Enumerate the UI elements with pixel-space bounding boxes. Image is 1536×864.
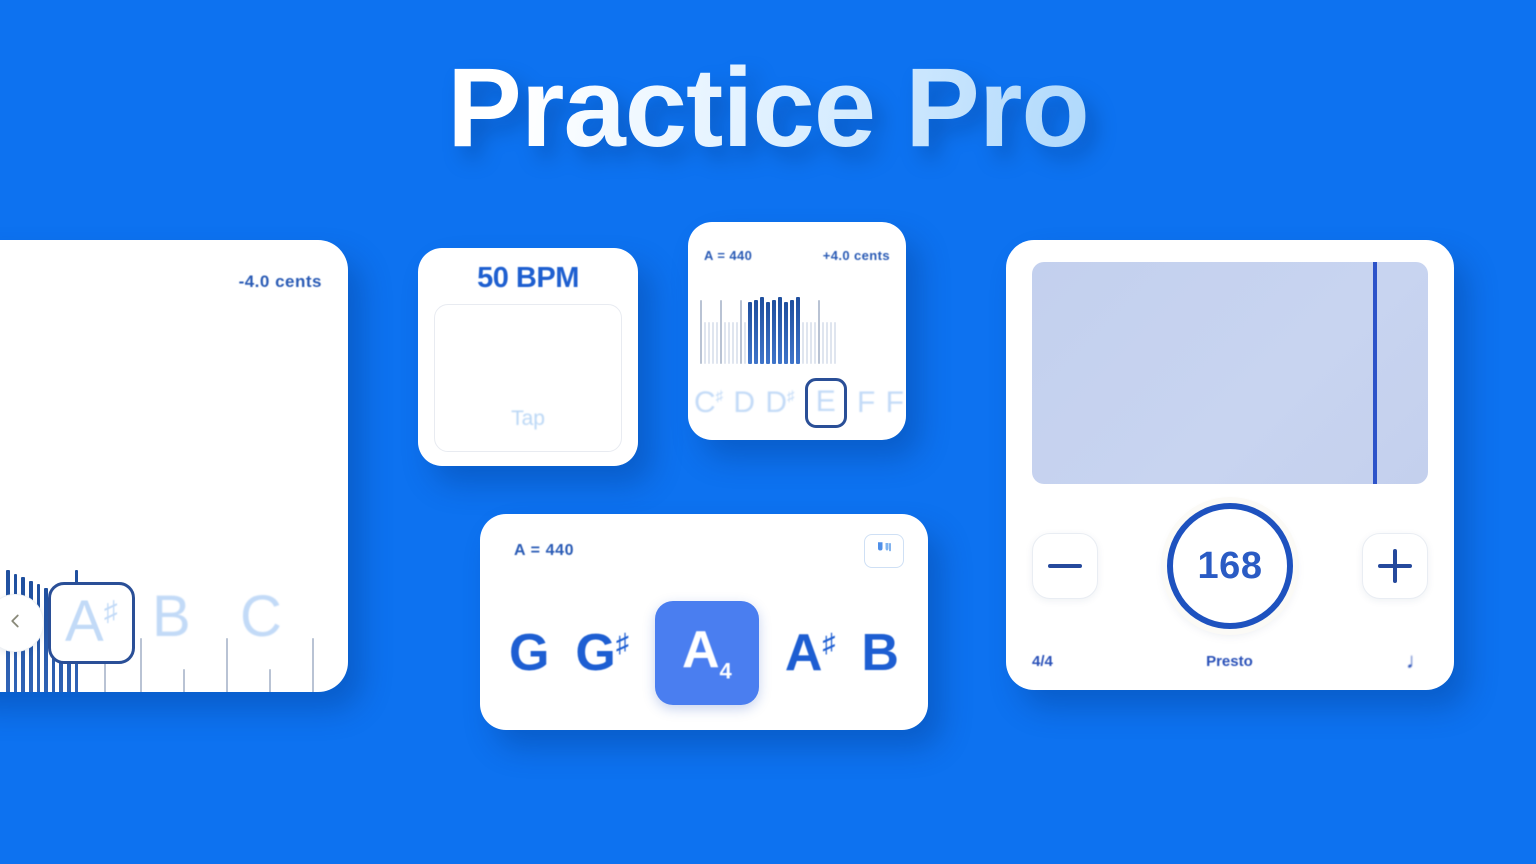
meter-bar — [744, 322, 746, 364]
quarter-note-icon[interactable]: ♩ — [1406, 648, 1428, 674]
note-letter-base: G — [575, 624, 615, 682]
note-letter-text: C — [240, 584, 282, 649]
note-option-g[interactable]: G — [509, 627, 549, 679]
note-letter-base: E — [816, 385, 836, 418]
tuner-meter-small — [700, 294, 896, 364]
cents-readout: -4.0 cents — [239, 272, 322, 292]
metronome-card: 168 4/4 Presto ♩ — [1006, 240, 1454, 690]
meter-bar — [269, 669, 271, 692]
meter-bar — [732, 322, 734, 364]
page-title: Practice Pro — [0, 52, 1536, 164]
note-letter-base: F — [886, 386, 904, 419]
tuner-card-left: -4.0 cents A A♯ B C — [0, 240, 348, 692]
meter-bar — [796, 297, 800, 364]
note-option-g-sharp[interactable]: G♯ — [575, 627, 628, 679]
meter-bar — [772, 300, 776, 364]
meter-bar — [814, 322, 816, 364]
note-octave: 4 — [720, 658, 732, 683]
note-letter-base: A — [682, 621, 720, 679]
beat-display — [1032, 262, 1428, 484]
note-option-b[interactable]: B — [861, 627, 899, 679]
meter-bar — [790, 300, 794, 364]
meter-bar — [784, 302, 788, 364]
meter-bar — [806, 322, 808, 364]
note-option-f[interactable]: F — [857, 388, 875, 418]
meter-bar — [728, 322, 730, 364]
meter-bar — [748, 302, 752, 364]
note-option-c-sharp[interactable]: C♯ — [694, 388, 723, 418]
meter-bar — [708, 322, 710, 364]
meter-bar — [736, 322, 738, 364]
meter-bar — [766, 302, 770, 364]
meter-bar — [822, 322, 824, 364]
bpm-dial[interactable]: 168 — [1167, 503, 1293, 629]
tap-metronome-card: 50 BPM Tap — [418, 248, 638, 466]
note-selector-card: A = 440 G G♯ A4 A♯ B — [480, 514, 928, 730]
note-option-a-sharp-selected[interactable]: A♯ — [48, 582, 135, 664]
note-option-c[interactable]: C — [240, 588, 282, 646]
plus-icon — [1378, 549, 1412, 583]
note-letter-text: B — [152, 584, 191, 649]
decrease-bpm-button[interactable] — [1032, 533, 1098, 599]
meter-bar — [716, 322, 718, 364]
note-letter-text: A4 — [682, 624, 732, 682]
note-sharp: ♯ — [104, 596, 118, 627]
meter-bar — [754, 300, 758, 364]
note-option-e-selected[interactable]: E — [805, 378, 847, 428]
meter-bar — [724, 322, 726, 364]
tuner-card-small: A = 440 +4.0 cents C♯ D D♯ E F F — [688, 222, 906, 440]
meter-bar — [700, 300, 702, 364]
meter-bar — [740, 300, 742, 364]
beat-marker — [1373, 262, 1377, 484]
note-row: G G♯ A4 A♯ B — [480, 588, 928, 718]
note-letter-base: A — [65, 589, 104, 654]
note-sharp: ♯ — [716, 388, 724, 405]
minus-icon — [1048, 549, 1082, 583]
tuning-fork-icon — [874, 540, 894, 563]
note-option-f-sharp[interactable]: F — [886, 388, 904, 418]
meter-bar — [826, 322, 828, 364]
app-screen: Practice Pro -4.0 cents A A♯ B C — [0, 0, 1536, 864]
metronome-meta-row: 4/4 Presto ♩ — [1006, 648, 1454, 674]
note-strip-small: C♯ D D♯ E F F — [692, 378, 906, 428]
note-letter-base: A — [785, 624, 823, 682]
tempo-name[interactable]: Presto — [1206, 653, 1253, 670]
meter-bar — [226, 638, 228, 692]
note-letter-base: B — [861, 624, 899, 682]
reference-pitch: A = 440 — [514, 542, 574, 560]
meter-bar — [830, 322, 832, 364]
note-sharp: ♯ — [787, 388, 795, 405]
note-letter-base: G — [509, 624, 549, 682]
tap-label: Tap — [435, 407, 621, 431]
meter-bar — [312, 638, 314, 692]
meter-bar — [183, 669, 185, 692]
chevron-left-icon — [4, 610, 26, 637]
increase-bpm-button[interactable] — [1362, 533, 1428, 599]
meter-bar — [704, 322, 706, 364]
note-letter-base: D — [733, 386, 755, 419]
meter-bar — [760, 297, 764, 364]
note-option-d-sharp[interactable]: D♯ — [765, 388, 794, 418]
meter-bar — [818, 300, 820, 364]
reference-pitch: A = 440 — [704, 248, 752, 263]
note-letter-base: F — [857, 386, 875, 419]
meter-bar — [810, 322, 812, 364]
note-option-a-sharp[interactable]: A♯ — [785, 627, 836, 679]
note-letter-base: D — [765, 386, 787, 419]
tuning-fork-button[interactable] — [864, 534, 904, 568]
note-option-d[interactable]: D — [733, 388, 755, 418]
cents-readout: +4.0 cents — [823, 248, 890, 263]
note-sharp: ♯ — [616, 628, 629, 658]
metronome-controls: 168 — [1006, 506, 1454, 626]
bpm-title: 50 BPM — [418, 262, 638, 295]
meter-bar — [712, 322, 714, 364]
meter-bar — [720, 300, 722, 364]
note-letter-base: C — [694, 386, 716, 419]
note-letter-text: E — [816, 387, 836, 417]
meter-bar — [834, 322, 836, 364]
note-sharp: ♯ — [822, 628, 835, 658]
bpm-value: 168 — [1198, 545, 1263, 588]
meter-bar — [140, 638, 142, 692]
note-option-b[interactable]: B — [152, 588, 191, 646]
meter-bar — [802, 322, 804, 364]
time-signature[interactable]: 4/4 — [1032, 653, 1053, 670]
note-letter-text: A♯ — [65, 593, 118, 651]
note-option-a4-selected[interactable]: A4 — [655, 601, 759, 705]
tap-pad[interactable]: Tap — [434, 304, 622, 452]
meter-bar — [778, 297, 782, 364]
